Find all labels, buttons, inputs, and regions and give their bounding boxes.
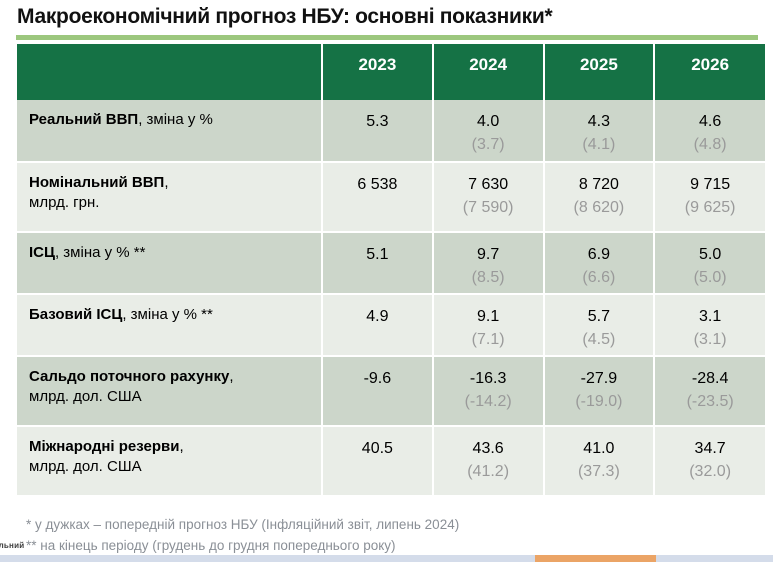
cell-value: 4.0(3.7) bbox=[433, 100, 544, 162]
row-label-rest: , bbox=[229, 368, 233, 385]
row-label-line2: млрд. дол. США bbox=[29, 457, 315, 477]
row-label-rest: , зміна у % ** bbox=[122, 306, 213, 323]
cell-previous: (6.6) bbox=[546, 266, 653, 289]
cell-value: 5.1 bbox=[322, 232, 433, 294]
cell-current: -16.3 bbox=[470, 370, 506, 387]
cell-value: 5.7(4.5) bbox=[544, 294, 655, 356]
cell-previous: (32.0) bbox=[656, 460, 764, 483]
cell-current: 4.3 bbox=[588, 113, 610, 130]
cell-current: -28.4 bbox=[692, 370, 728, 387]
footnote-1: * у дужках – попередній прогноз НБУ (Інф… bbox=[26, 515, 459, 536]
cell-current: 7 630 bbox=[468, 176, 508, 193]
cell-previous: (5.0) bbox=[656, 266, 764, 289]
cell-value: 7 630(7 590) bbox=[433, 162, 544, 232]
page-title: Макроекономічний прогноз НБУ: основні по… bbox=[17, 5, 552, 29]
cell-current: 5.1 bbox=[366, 246, 388, 263]
column-header-2025: 2025 bbox=[544, 44, 655, 100]
cell-previous: (4.1) bbox=[546, 133, 653, 156]
clipped-edge-text: альний bbox=[0, 541, 24, 550]
column-header-indicator bbox=[17, 44, 322, 100]
cell-value: 3.1(3.1) bbox=[654, 294, 765, 356]
cell-value: -28.4(-23.5) bbox=[654, 356, 765, 426]
cell-previous: (7 590) bbox=[435, 196, 542, 219]
row-label-nominal-gdp: Номінальний ВВП,млрд. грн. bbox=[17, 162, 322, 232]
cell-previous: (8 620) bbox=[546, 196, 653, 219]
table-header-row: 2023 2024 2025 2026 bbox=[17, 44, 765, 100]
cell-value: 6 538 bbox=[322, 162, 433, 232]
row-label-line2: млрд. дол. США bbox=[29, 387, 315, 407]
row-label-core-cpi: Базовий ІСЦ, зміна у % ** bbox=[17, 294, 322, 356]
cell-value: -16.3(-14.2) bbox=[433, 356, 544, 426]
row-label-strong: Реальний ВВП bbox=[29, 111, 138, 128]
column-header-2026: 2026 bbox=[654, 44, 765, 100]
cell-previous: (-14.2) bbox=[435, 390, 542, 413]
cell-current: 5.7 bbox=[588, 308, 610, 325]
cell-current: 9 715 bbox=[690, 176, 730, 193]
cell-value: 43.6(41.2) bbox=[433, 426, 544, 496]
row-label-rest: , зміна у % bbox=[138, 111, 213, 128]
cell-current: 40.5 bbox=[362, 440, 393, 457]
cell-current: 5.0 bbox=[699, 246, 721, 263]
table-row: Сальдо поточного рахунку,млрд. дол. США … bbox=[17, 356, 765, 426]
cell-value: -27.9(-19.0) bbox=[544, 356, 655, 426]
macro-forecast-table: 2023 2024 2025 2026 Реальний ВВП, зміна … bbox=[17, 44, 765, 497]
row-label-rest: , bbox=[179, 438, 183, 455]
cell-current: 8 720 bbox=[579, 176, 619, 193]
cell-value: 9 715(9 625) bbox=[654, 162, 765, 232]
title-underline-rule bbox=[16, 35, 758, 40]
cell-previous: (-19.0) bbox=[546, 390, 653, 413]
cell-value: 41.0(37.3) bbox=[544, 426, 655, 496]
bottom-bar-accent bbox=[535, 555, 656, 562]
cell-previous: (8.5) bbox=[435, 266, 542, 289]
cell-value: 8 720(8 620) bbox=[544, 162, 655, 232]
cell-previous: (3.7) bbox=[435, 133, 542, 156]
cell-previous: (37.3) bbox=[546, 460, 653, 483]
row-label-rest: , зміна у % ** bbox=[55, 244, 146, 261]
column-header-2023: 2023 bbox=[322, 44, 433, 100]
cell-previous: (7.1) bbox=[435, 328, 542, 351]
cell-value: 34.7(32.0) bbox=[654, 426, 765, 496]
cell-value: 4.9 bbox=[322, 294, 433, 356]
cell-current: -9.6 bbox=[364, 370, 392, 387]
cell-current: -27.9 bbox=[581, 370, 617, 387]
row-label-strong: Номінальний ВВП bbox=[29, 174, 164, 191]
cell-value: 5.3 bbox=[322, 100, 433, 162]
bottom-bar bbox=[0, 555, 773, 562]
cell-current: 5.3 bbox=[366, 113, 388, 130]
table-body: Реальний ВВП, зміна у % 5.3 4.0(3.7) 4.3… bbox=[17, 100, 765, 496]
footnote-2: ** на кінець періоду (грудень до грудня … bbox=[26, 536, 459, 557]
cell-current: 34.7 bbox=[695, 440, 726, 457]
cell-value: 6.9(6.6) bbox=[544, 232, 655, 294]
cell-previous: (4.5) bbox=[546, 328, 653, 351]
cell-value: 9.7(8.5) bbox=[433, 232, 544, 294]
cell-value: 40.5 bbox=[322, 426, 433, 496]
cell-current: 4.9 bbox=[366, 308, 388, 325]
row-label-cpi: ІСЦ, зміна у % ** bbox=[17, 232, 322, 294]
table-row: ІСЦ, зміна у % ** 5.1 9.7(8.5) 6.9(6.6) … bbox=[17, 232, 765, 294]
row-label-line2: млрд. грн. bbox=[29, 193, 315, 213]
row-label-strong: ІСЦ bbox=[29, 244, 55, 261]
cell-value: 9.1(7.1) bbox=[433, 294, 544, 356]
row-label-strong: Міжнародні резерви bbox=[29, 438, 179, 455]
column-header-2024: 2024 bbox=[433, 44, 544, 100]
cell-current: 9.7 bbox=[477, 246, 499, 263]
footnotes: * у дужках – попередній прогноз НБУ (Інф… bbox=[26, 515, 459, 557]
cell-previous: (41.2) bbox=[435, 460, 542, 483]
cell-current: 6 538 bbox=[357, 176, 397, 193]
row-label-real-gdp: Реальний ВВП, зміна у % bbox=[17, 100, 322, 162]
cell-previous: (3.1) bbox=[656, 328, 764, 351]
cell-current: 41.0 bbox=[583, 440, 614, 457]
cell-current: 4.6 bbox=[699, 113, 721, 130]
table-row: Базовий ІСЦ, зміна у % ** 4.9 9.1(7.1) 5… bbox=[17, 294, 765, 356]
cell-current: 6.9 bbox=[588, 246, 610, 263]
table-header: 2023 2024 2025 2026 bbox=[17, 44, 765, 100]
cell-current: 9.1 bbox=[477, 308, 499, 325]
row-label-strong: Базовий ІСЦ bbox=[29, 306, 122, 323]
cell-previous: (9 625) bbox=[656, 196, 764, 219]
cell-current: 4.0 bbox=[477, 113, 499, 130]
row-label-strong: Сальдо поточного рахунку bbox=[29, 368, 229, 385]
cell-current: 43.6 bbox=[473, 440, 504, 457]
table-row: Міжнародні резерви,млрд. дол. США 40.5 4… bbox=[17, 426, 765, 496]
cell-current: 3.1 bbox=[699, 308, 721, 325]
cell-value: 5.0(5.0) bbox=[654, 232, 765, 294]
cell-previous: (-23.5) bbox=[656, 390, 764, 413]
table-row: Реальний ВВП, зміна у % 5.3 4.0(3.7) 4.3… bbox=[17, 100, 765, 162]
cell-value: -9.6 bbox=[322, 356, 433, 426]
cell-value: 4.6(4.8) bbox=[654, 100, 765, 162]
table-row: Номінальний ВВП,млрд. грн. 6 538 7 630(7… bbox=[17, 162, 765, 232]
row-label-international-reserves: Міжнародні резерви,млрд. дол. США bbox=[17, 426, 322, 496]
row-label-current-account: Сальдо поточного рахунку,млрд. дол. США bbox=[17, 356, 322, 426]
cell-value: 4.3(4.1) bbox=[544, 100, 655, 162]
cell-previous: (4.8) bbox=[656, 133, 764, 156]
row-label-rest: , bbox=[164, 174, 168, 191]
